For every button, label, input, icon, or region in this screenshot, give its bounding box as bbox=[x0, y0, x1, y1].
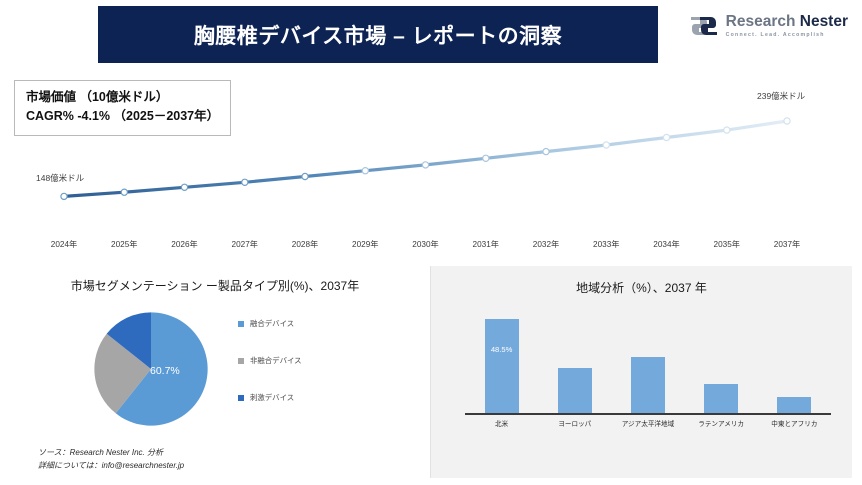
line-data-point bbox=[181, 184, 187, 190]
market-value-line-chart: 148億米ドル 239億米ドル bbox=[0, 86, 862, 226]
regional-title: 地域分析（%）、2037 年 bbox=[431, 266, 852, 297]
bar-category-label: 北米 bbox=[469, 418, 535, 428]
bar-rect: 48.5% bbox=[485, 319, 519, 413]
line-start-value-label: 148億米ドル bbox=[36, 172, 84, 184]
bar-chart-baseline bbox=[465, 413, 831, 415]
bar-value-label: 48.5% bbox=[491, 345, 513, 354]
line-chart-svg bbox=[0, 86, 862, 226]
line-data-point bbox=[543, 149, 549, 155]
segmentation-panel: 市場セグメンテーション ー製品タイプ別(%)、2037年 60.7% 融合デバイ… bbox=[10, 266, 420, 478]
page-title: 胸腰椎デバイス市場 – レポートの洞察 bbox=[194, 20, 562, 50]
line-data-point bbox=[724, 127, 730, 133]
bar-column bbox=[625, 306, 671, 413]
bar-column bbox=[771, 306, 817, 413]
line-data-point bbox=[61, 193, 67, 199]
bar-category-label: ヨーロッパ bbox=[542, 418, 608, 428]
brand-logo: Research Nester Connect. Lead. Accomplis… bbox=[689, 14, 848, 38]
legend-label: 刺激デバイス bbox=[250, 392, 294, 403]
year-tick-label: 2033年 bbox=[593, 238, 619, 250]
bar-rect bbox=[777, 397, 811, 413]
year-tick-label: 2031年 bbox=[473, 238, 499, 250]
line-data-point bbox=[302, 173, 308, 179]
year-tick-label: 2030年 bbox=[412, 238, 438, 250]
logo-name-second: Nester bbox=[800, 13, 848, 30]
line-chart-x-axis: 2024年2025年2026年2027年2028年2029年2030年2031年… bbox=[0, 238, 862, 256]
line-data-point bbox=[663, 134, 669, 140]
line-data-point bbox=[121, 189, 127, 195]
year-tick-label: 2029年 bbox=[352, 238, 378, 250]
bar-chart-x-axis: 北米ヨーロッパアジア太平洋地域ラテンアメリカ中東とアフリカ bbox=[465, 418, 831, 428]
line-data-point bbox=[362, 168, 368, 174]
year-tick-label: 2028年 bbox=[292, 238, 318, 250]
legend-swatch-icon bbox=[238, 321, 244, 327]
line-data-point bbox=[242, 179, 248, 185]
bar-chart-area: 48.5% 北米ヨーロッパアジア太平洋地域ラテンアメリカ中東とアフリカ bbox=[431, 306, 853, 436]
bar-category-label: アジア太平洋地域 bbox=[615, 418, 681, 428]
pie-legend: 融合デバイス非融合デバイス刺激デバイス bbox=[238, 318, 302, 403]
year-tick-label: 2024年 bbox=[51, 238, 77, 250]
legend-swatch-icon bbox=[238, 395, 244, 401]
research-nester-logo-icon bbox=[689, 14, 719, 38]
legend-label: 非融合デバイス bbox=[250, 355, 302, 366]
year-tick-label: 2026年 bbox=[171, 238, 197, 250]
year-tick-label: 2025年 bbox=[111, 238, 137, 250]
bar-column bbox=[552, 306, 598, 413]
line-data-point bbox=[784, 118, 790, 124]
bar-rect bbox=[558, 368, 592, 413]
legend-swatch-icon bbox=[238, 358, 244, 364]
year-tick-label: 2035年 bbox=[714, 238, 740, 250]
bar-category-label: 中東とアフリカ bbox=[761, 418, 827, 428]
pie-slice-value-label: 60.7% bbox=[150, 365, 180, 377]
source-line: ソース：Research Nester Inc. 分析 bbox=[38, 446, 184, 459]
legend-label: 融合デバイス bbox=[250, 318, 294, 329]
year-tick-label: 2037年 bbox=[774, 238, 800, 250]
pie-legend-item: 非融合デバイス bbox=[238, 355, 302, 366]
source-note: ソース：Research Nester Inc. 分析 詳細については：info… bbox=[38, 446, 184, 472]
header-banner: 胸腰椎デバイス市場 – レポートの洞察 bbox=[98, 6, 658, 63]
segmentation-title: 市場セグメンテーション ー製品タイプ別(%)、2037年 bbox=[10, 266, 420, 295]
line-data-point bbox=[422, 162, 428, 168]
contact-line: 詳細については：info@researchnester.jp bbox=[38, 459, 184, 472]
bar-rect bbox=[704, 384, 738, 413]
year-tick-label: 2027年 bbox=[232, 238, 258, 250]
line-data-point bbox=[603, 142, 609, 148]
report-infographic: 胸腰椎デバイス市場 – レポートの洞察 Research Nester Conn… bbox=[0, 0, 862, 485]
logo-name-first: Research bbox=[726, 13, 796, 30]
pie-chart-area: 60.7% 融合デバイス非融合デバイス刺激デバイス bbox=[10, 310, 420, 435]
logo-wordmark: Research Nester Connect. Lead. Accomplis… bbox=[726, 14, 848, 38]
pie-legend-item: 刺激デバイス bbox=[238, 392, 302, 403]
year-tick-label: 2032年 bbox=[533, 238, 559, 250]
bar-column bbox=[698, 306, 744, 413]
regional-panel: 地域分析（%）、2037 年 48.5% 北米ヨーロッパアジア太平洋地域ラテンア… bbox=[430, 266, 852, 478]
year-tick-label: 2034年 bbox=[653, 238, 679, 250]
bar-rect bbox=[631, 357, 665, 413]
line-data-point bbox=[483, 155, 489, 161]
pie-legend-item: 融合デバイス bbox=[238, 318, 302, 329]
line-end-value-label: 239億米ドル bbox=[757, 90, 805, 102]
logo-tagline: Connect. Lead. Accomplish bbox=[726, 33, 848, 38]
bar-column: 48.5% bbox=[479, 306, 525, 413]
bar-category-label: ラテンアメリカ bbox=[688, 418, 754, 428]
